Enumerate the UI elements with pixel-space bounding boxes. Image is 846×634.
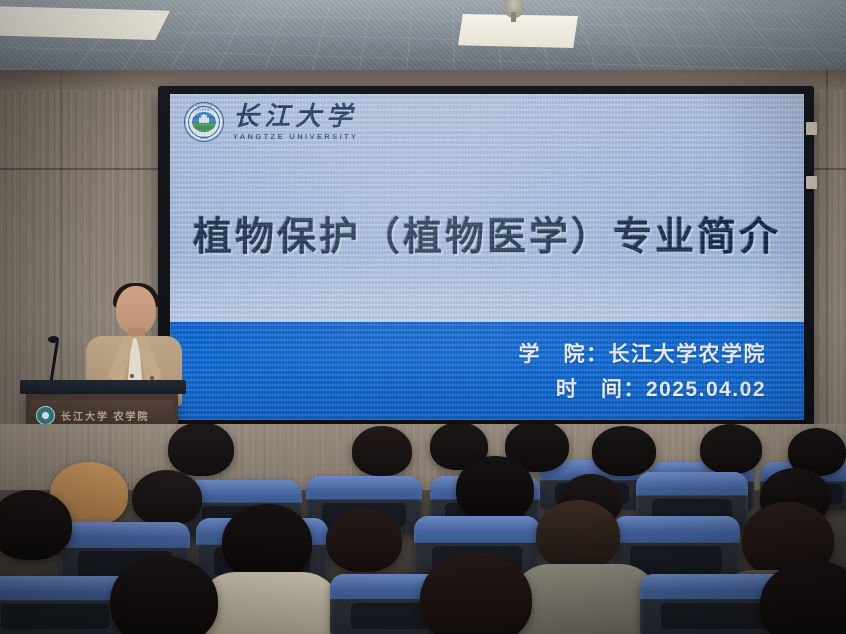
slide-meta-label: 时 间：: [556, 373, 646, 408]
emblem-top-text: YANGTZE UNIVERSITY: [185, 104, 223, 112]
slide-title: 植物保护（植物医学）专业简介: [170, 206, 804, 262]
lecture-hall-photo: YANGTZE UNIVERSITY 1950 长江大学 YANGTZE UNI…: [0, 0, 846, 634]
seat-rail: [636, 472, 748, 488]
audience-head: [222, 504, 312, 580]
seat-rail: [306, 476, 422, 492]
podium-emblem-icon: [36, 406, 55, 425]
audience-head: [132, 470, 202, 526]
ceiling-light-panel-right: [458, 14, 578, 48]
slide-meta-row: 时 间： 2025.04.02: [519, 373, 767, 408]
ceiling-light-panel-left: [0, 6, 170, 40]
audience-shoulders: [510, 564, 660, 634]
university-name-cn: 长江大学: [233, 104, 358, 130]
screen-mount-bracket: [806, 122, 817, 135]
screen-mount-bracket: [806, 176, 817, 189]
university-name-block: 长江大学 YANGTZE UNIVERSITY: [233, 104, 358, 141]
audience-head: [456, 456, 534, 522]
audience-head: [536, 500, 620, 570]
audience-head: [168, 424, 234, 476]
microphone-head-icon: [48, 336, 59, 343]
projection-screen: YANGTZE UNIVERSITY 1950 长江大学 YANGTZE UNI…: [170, 94, 804, 420]
audience-head: [352, 426, 412, 476]
slide-meta-value: 2025.04.02: [646, 373, 766, 408]
seat-rail: [186, 480, 302, 496]
slide-meta-label: 学 院：: [519, 338, 609, 373]
seat-rail: [414, 516, 540, 532]
university-name-en: YANGTZE UNIVERSITY: [233, 133, 358, 141]
podium-desktop: [20, 380, 186, 394]
audience-head: [700, 424, 762, 474]
audience-head: [592, 426, 656, 476]
slide-logo-block: YANGTZE UNIVERSITY 1950 长江大学 YANGTZE UNI…: [184, 102, 358, 142]
university-emblem-icon: YANGTZE UNIVERSITY 1950: [184, 102, 224, 142]
podium-plate-text: 长江大学 农学院: [61, 408, 150, 423]
slide-meta-block: 学 院： 长江大学农学院 时 间： 2025.04.02: [519, 338, 767, 407]
audience-head: [0, 490, 72, 560]
audience-head: [326, 508, 402, 572]
ceiling: [0, 0, 846, 78]
audience-area: [0, 424, 846, 634]
emblem-bottom-text: 1950: [185, 135, 223, 140]
slide-meta-value: 长江大学农学院: [609, 338, 767, 373]
speaker-button: [130, 374, 134, 378]
seat-rail: [612, 516, 740, 532]
sprinkler-icon: [505, 0, 523, 18]
slide-meta-row: 学 院： 长江大学农学院: [519, 338, 767, 373]
speaker-head: [116, 286, 156, 334]
seat-rail: [60, 522, 190, 538]
